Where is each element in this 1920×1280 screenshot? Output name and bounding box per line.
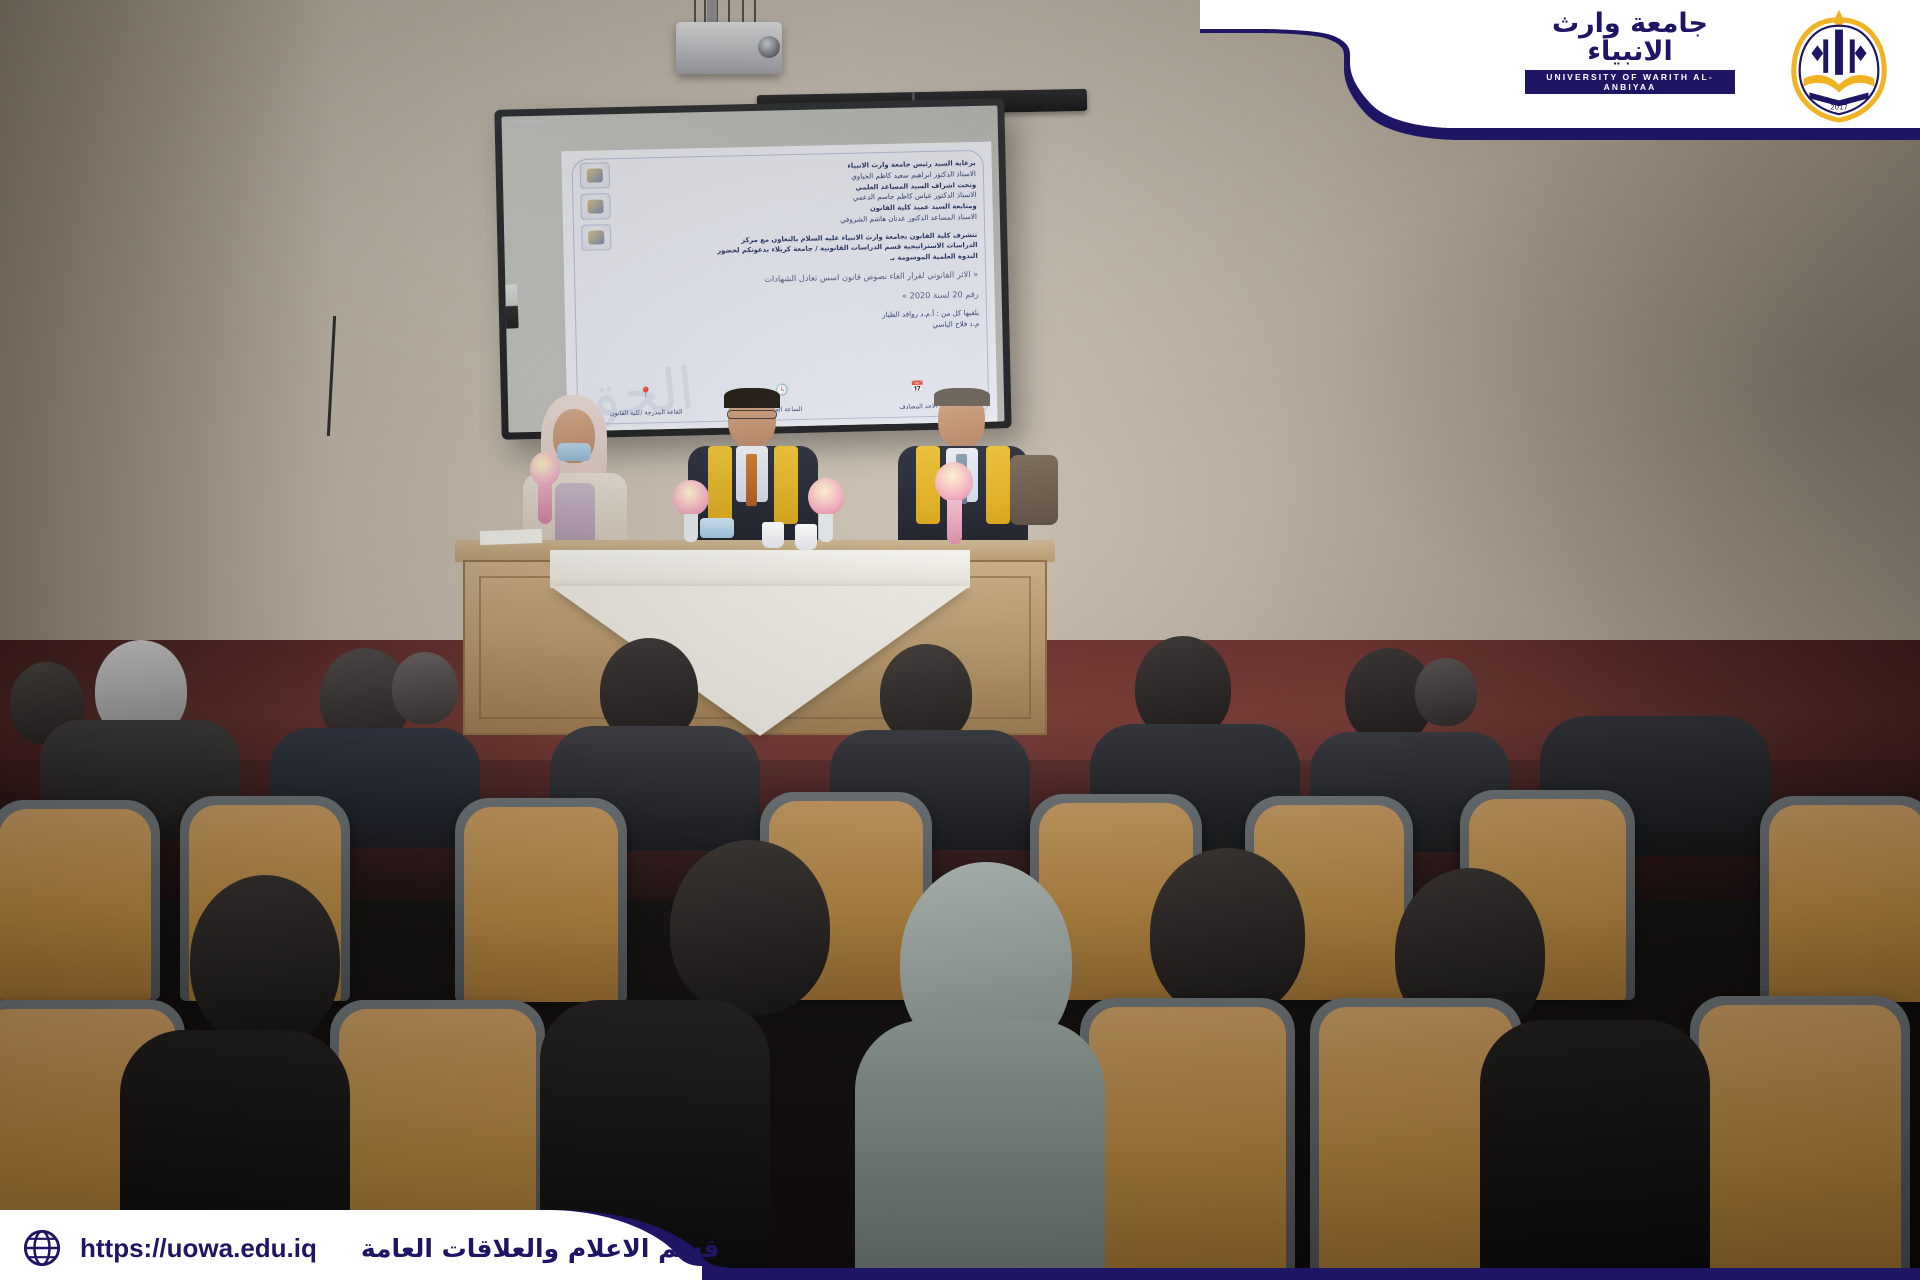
audience-person-front: [190, 875, 340, 1045]
audience-person-front: [1480, 1020, 1710, 1280]
audience-area: [0, 600, 1920, 1280]
projector-lens-icon: [758, 36, 780, 58]
audience-person: [880, 644, 972, 744]
audience-person: [1415, 658, 1477, 726]
slide-text-block: برعاية السيد رئيس جامعة وارث الانبياء ال…: [646, 158, 980, 337]
paper-cup: [762, 522, 784, 548]
poster-canvas: Promethean الحق برعاية السيد رئيس جامعة …: [0, 0, 1920, 1280]
audience-person-front: [855, 1020, 1105, 1280]
audience-person-front: [120, 1030, 350, 1280]
whiteboard-marker: [501, 284, 518, 329]
audience-person-front: [1150, 848, 1305, 1018]
whiteboard-brand: Promethean: [514, 119, 546, 126]
flower-vase: [925, 462, 981, 550]
projector-cables: [690, 0, 760, 24]
audience-person: [392, 652, 458, 724]
paper-cup: [795, 524, 817, 550]
wall-shadow: [0, 0, 330, 700]
auditorium-chair: [1690, 996, 1910, 1280]
audience-person-front: [540, 1000, 770, 1280]
auditorium-chair: [0, 800, 160, 1000]
face-mask: [700, 518, 734, 538]
auditorium-chair: [455, 798, 627, 1002]
audience-person-front: [670, 840, 830, 1015]
document-papers: [480, 529, 542, 545]
event-photograph: Promethean الحق برعاية السيد رئيس جامعة …: [0, 0, 1920, 1280]
auditorium-chair: [1760, 796, 1920, 1002]
auditorium-chair: [1080, 998, 1295, 1280]
slide-logo-stack: [576, 162, 612, 256]
panel-chair: [1010, 455, 1058, 525]
auditorium-chair: [330, 1000, 545, 1280]
